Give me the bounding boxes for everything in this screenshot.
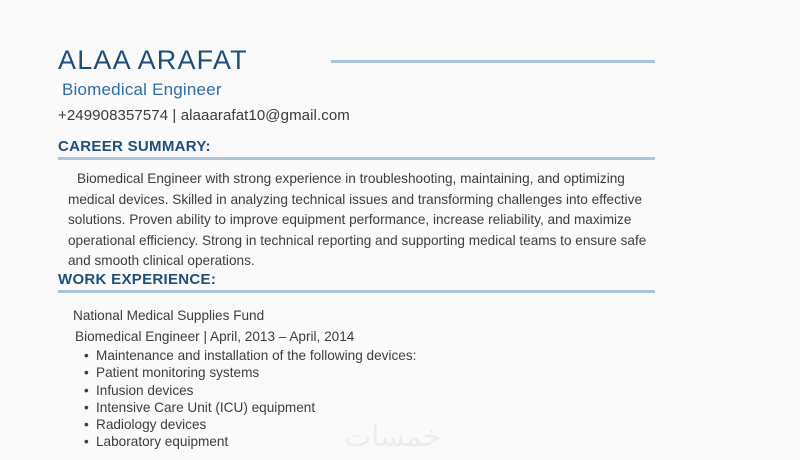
job-title-subtitle: Biomedical Engineer: [62, 79, 222, 100]
bullet-icon: •: [84, 347, 89, 364]
bullet-icon: •: [84, 399, 89, 416]
section-divider-work-experience: [58, 290, 655, 293]
section-heading-work-experience: WORK EXPERIENCE:: [58, 271, 216, 289]
contact-line: +249908357574 | alaaarafat10@gmail.com: [58, 106, 350, 125]
bullet-icon: •: [84, 382, 89, 399]
section-divider-career-summary: [58, 157, 655, 160]
list-item-label: Radiology devices: [96, 417, 206, 432]
bullet-icon: •: [84, 433, 89, 450]
list-item-label: Infusion devices: [96, 383, 193, 398]
job-role-and-dates: Biomedical Engineer | April, 2013 – Apri…: [75, 327, 354, 346]
list-item-label: Laboratory equipment: [96, 434, 228, 449]
list-item: • Maintenance and installation of the fo…: [96, 347, 656, 364]
section-heading-career-summary: CAREER SUMMARY:: [58, 138, 211, 156]
name-row: ALAA ARAFAT: [58, 44, 758, 78]
bullet-icon: •: [84, 416, 89, 433]
list-item-label: Maintenance and installation of the foll…: [96, 348, 416, 363]
resume-page: ALAA ARAFAT Biomedical Engineer +2499083…: [0, 0, 800, 460]
header-divider-rule: [331, 60, 655, 63]
list-item: • Infusion devices: [96, 382, 656, 399]
list-item: • Intensive Care Unit (ICU) equipment: [96, 399, 656, 416]
list-item: • Patient monitoring systems: [96, 364, 656, 381]
job-company-name: National Medical Supplies Fund: [73, 306, 264, 325]
list-item-label: Patient monitoring systems: [96, 365, 259, 380]
page-title: ALAA ARAFAT: [58, 44, 248, 76]
list-item-label: Intensive Care Unit (ICU) equipment: [96, 400, 315, 415]
bullet-icon: •: [84, 364, 89, 381]
watermark: خمسات: [344, 418, 441, 456]
career-summary-text: Biomedical Engineer with strong experien…: [68, 169, 654, 272]
